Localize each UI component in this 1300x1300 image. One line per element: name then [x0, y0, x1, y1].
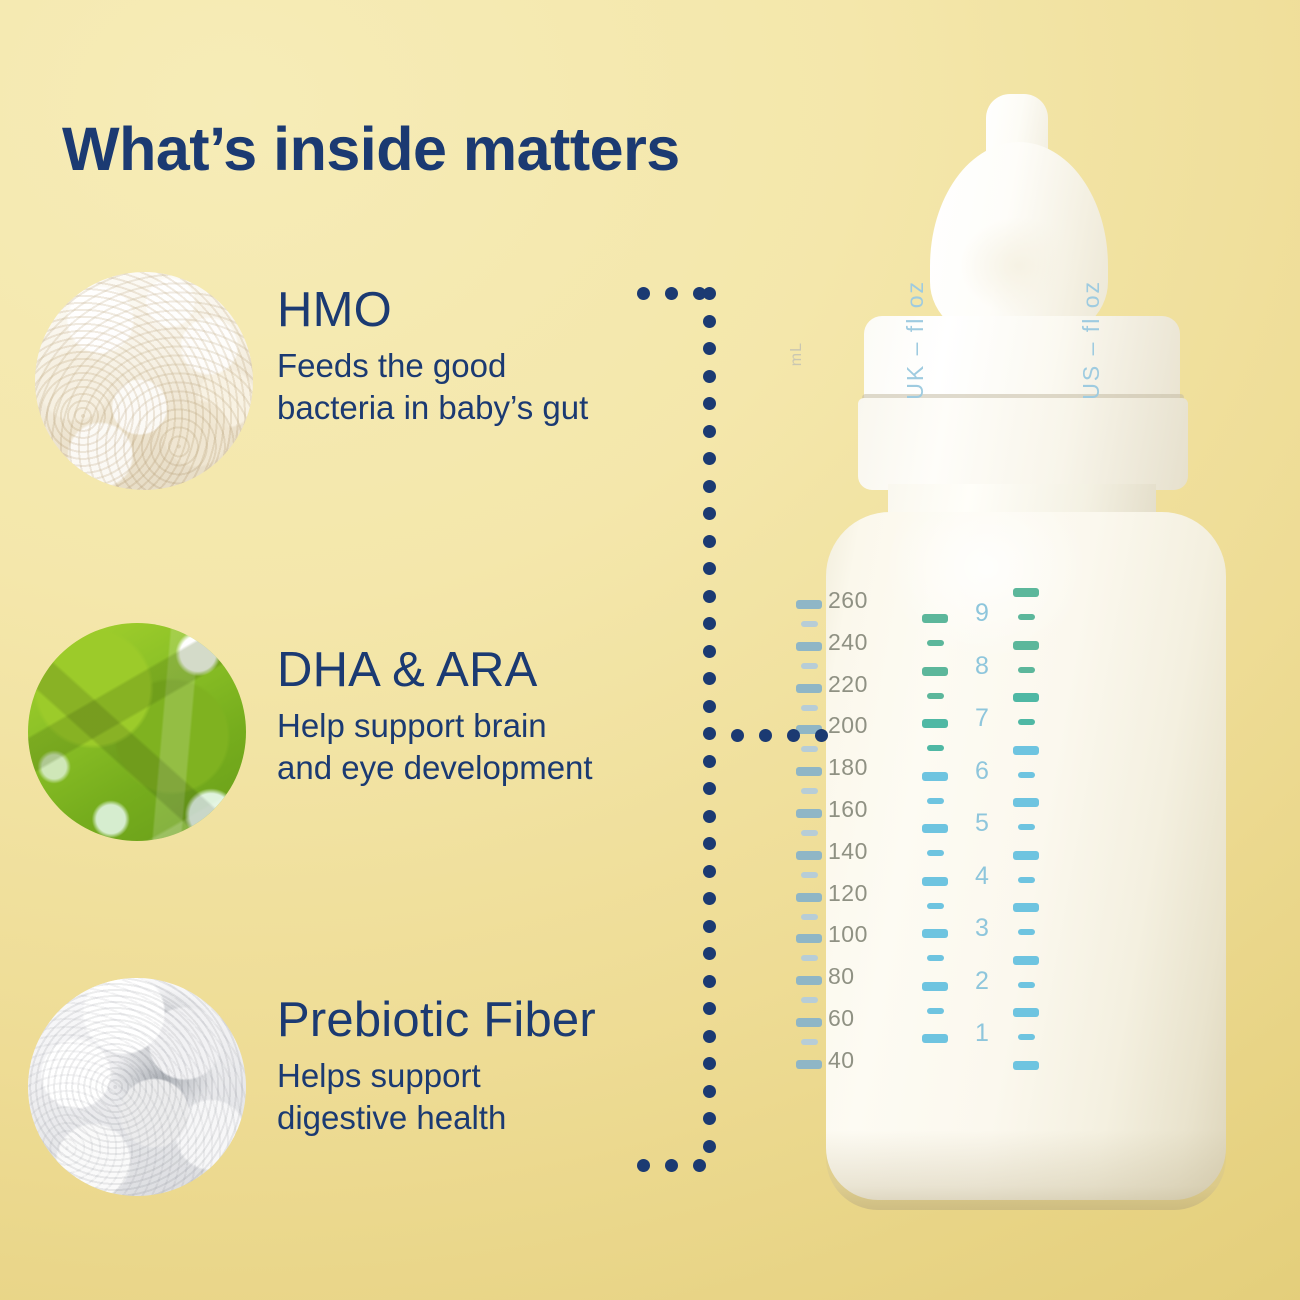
ml-tick-minor — [801, 705, 818, 711]
connector-dot — [759, 729, 772, 742]
ml-tick-label: 40 — [828, 1047, 855, 1074]
connector-dot — [703, 452, 716, 465]
ml-tick-minor — [801, 872, 818, 878]
connector-dot — [703, 315, 716, 328]
connector-dot — [703, 892, 716, 905]
uk-oz-tick-minor — [927, 955, 944, 961]
uk-oz-tick-minor — [927, 798, 944, 804]
page-title: What’s inside matters — [62, 114, 680, 184]
oz-tick-label: 5 — [975, 809, 989, 838]
connector-dot — [703, 1140, 716, 1153]
uk-oz-tick-major — [922, 982, 948, 991]
connector-dot — [703, 342, 716, 355]
uk-oz-tick-minor — [927, 693, 944, 699]
ml-tick-major — [796, 642, 822, 651]
ml-tick-label: 160 — [828, 796, 868, 823]
us-oz-tick-minor — [1018, 667, 1035, 673]
us-oz-tick-major — [1013, 641, 1039, 650]
ml-tick-label: 140 — [828, 838, 868, 865]
us-oz-tick-minor — [1018, 1034, 1035, 1040]
feature-hmo-description: Feeds the good bacteria in baby’s gut — [277, 345, 677, 429]
connector-dot — [703, 562, 716, 575]
ml-tick-minor — [801, 830, 818, 836]
connector-dot — [703, 865, 716, 878]
ml-tick-label: 220 — [828, 671, 868, 698]
us-oz-tick-major — [1013, 903, 1039, 912]
connector-dot — [703, 837, 716, 850]
connector-dot — [703, 755, 716, 768]
connector-dot — [703, 700, 716, 713]
us-oz-tick-minor — [1018, 982, 1035, 988]
ml-axis-label: mL — [788, 342, 806, 366]
oz-tick-label: 6 — [975, 757, 989, 786]
ml-tick-minor — [801, 788, 818, 794]
grey-powder-photo — [28, 978, 246, 1196]
ml-tick-label: 240 — [828, 629, 868, 656]
us-oz-tick-major — [1013, 693, 1039, 702]
connector-dot — [703, 287, 716, 300]
ml-tick-minor — [801, 663, 818, 669]
us-oz-tick-minor — [1018, 824, 1035, 830]
ml-tick-minor — [801, 1039, 818, 1045]
us-oz-tick-major — [1013, 956, 1039, 965]
connector-dot — [731, 729, 744, 742]
ml-tick-label: 80 — [828, 963, 855, 990]
connector-dot — [703, 480, 716, 493]
uk-oz-tick-major — [922, 614, 948, 623]
uk-oz-tick-minor — [927, 745, 944, 751]
green-gel-photo — [28, 623, 246, 841]
us-oz-tick-minor — [1018, 614, 1035, 620]
connector-dot — [665, 1159, 678, 1172]
us-oz-tick-major — [1013, 1008, 1039, 1017]
ml-tick-label: 260 — [828, 587, 868, 614]
us-oz-tick-minor — [1018, 877, 1035, 883]
ml-tick-major — [796, 1018, 822, 1027]
us-fl-oz-label: US – fl oz — [1078, 280, 1105, 400]
us-oz-tick-major — [1013, 746, 1039, 755]
uk-oz-tick-minor — [927, 640, 944, 646]
feature-hmo-title: HMO — [277, 285, 677, 336]
ml-tick-minor — [801, 997, 818, 1003]
connector-dot — [703, 590, 716, 603]
connector-dot — [703, 810, 716, 823]
us-oz-tick-minor — [1018, 719, 1035, 725]
uk-fl-oz-label: UK – fl oz — [902, 280, 929, 400]
ml-tick-major — [796, 893, 822, 902]
oz-tick-label: 9 — [975, 599, 989, 628]
connector-dot — [703, 645, 716, 658]
uk-oz-tick-major — [922, 772, 948, 781]
ml-tick-major — [796, 1060, 822, 1069]
ml-tick-major — [796, 976, 822, 985]
connector-dot — [703, 975, 716, 988]
feature-prebiotic-fiber-description: Helps support digestive health — [277, 1055, 707, 1139]
ml-tick-major — [796, 684, 822, 693]
ml-tick-major — [796, 851, 822, 860]
ml-tick-minor — [801, 746, 818, 752]
connector-dot — [693, 1159, 706, 1172]
oz-tick-label: 8 — [975, 652, 989, 681]
connector-dot — [703, 947, 716, 960]
uk-oz-tick-minor — [927, 1008, 944, 1014]
oz-tick-label: 3 — [975, 914, 989, 943]
uk-oz-tick-major — [922, 667, 948, 676]
ml-tick-major — [796, 934, 822, 943]
connector-dot — [703, 507, 716, 520]
us-oz-tick-major — [1013, 851, 1039, 860]
powder-flour-photo — [35, 272, 253, 490]
uk-oz-tick-major — [922, 824, 948, 833]
ml-tick-major — [796, 600, 822, 609]
ml-tick-label: 120 — [828, 880, 868, 907]
feature-dha-ara-title: DHA & ARA — [277, 645, 697, 696]
us-oz-tick-minor — [1018, 929, 1035, 935]
oz-tick-label: 4 — [975, 862, 989, 891]
connector-dot — [815, 729, 828, 742]
feature-prebiotic-fiber-title: Prebiotic Fiber — [277, 995, 707, 1046]
oz-tick-label: 2 — [975, 967, 989, 996]
connector-dot — [703, 672, 716, 685]
bottle-base-shadow — [826, 1130, 1226, 1210]
connector-dot — [703, 397, 716, 410]
feature-dha-ara-description: Help support brain and eye development — [277, 705, 697, 789]
connector-dot — [787, 729, 800, 742]
us-oz-tick-major — [1013, 1061, 1039, 1070]
connector-dot — [703, 782, 716, 795]
baby-bottle-photo: 2602402202001801601401201008060409876543… — [770, 80, 1270, 1230]
ml-tick-major — [796, 809, 822, 818]
us-oz-tick-minor — [1018, 772, 1035, 778]
us-oz-tick-major — [1013, 588, 1039, 597]
ml-tick-label: 180 — [828, 754, 868, 781]
uk-oz-tick-minor — [927, 850, 944, 856]
oz-tick-label: 7 — [975, 704, 989, 733]
oz-tick-label: 1 — [975, 1019, 989, 1048]
ml-tick-label: 60 — [828, 1005, 855, 1032]
uk-oz-tick-major — [922, 719, 948, 728]
product-benefits-poster: 2602402202001801601401201008060409876543… — [0, 0, 1300, 1300]
uk-oz-tick-major — [922, 877, 948, 886]
uk-oz-tick-major — [922, 1034, 948, 1043]
ml-tick-label: 200 — [828, 712, 868, 739]
ml-tick-minor — [801, 955, 818, 961]
connector-dot — [637, 1159, 650, 1172]
ml-tick-minor — [801, 621, 818, 627]
bottle-collar-lower — [858, 398, 1188, 490]
ml-tick-minor — [801, 914, 818, 920]
us-oz-tick-major — [1013, 798, 1039, 807]
uk-oz-tick-minor — [927, 903, 944, 909]
connector-dot — [703, 727, 716, 740]
connector-dot — [703, 535, 716, 548]
connector-dot — [703, 370, 716, 383]
ml-tick-label: 100 — [828, 921, 868, 948]
connector-dot — [703, 425, 716, 438]
uk-oz-tick-major — [922, 929, 948, 938]
connector-dot — [703, 617, 716, 630]
connector-dot — [703, 920, 716, 933]
ml-tick-major — [796, 767, 822, 776]
